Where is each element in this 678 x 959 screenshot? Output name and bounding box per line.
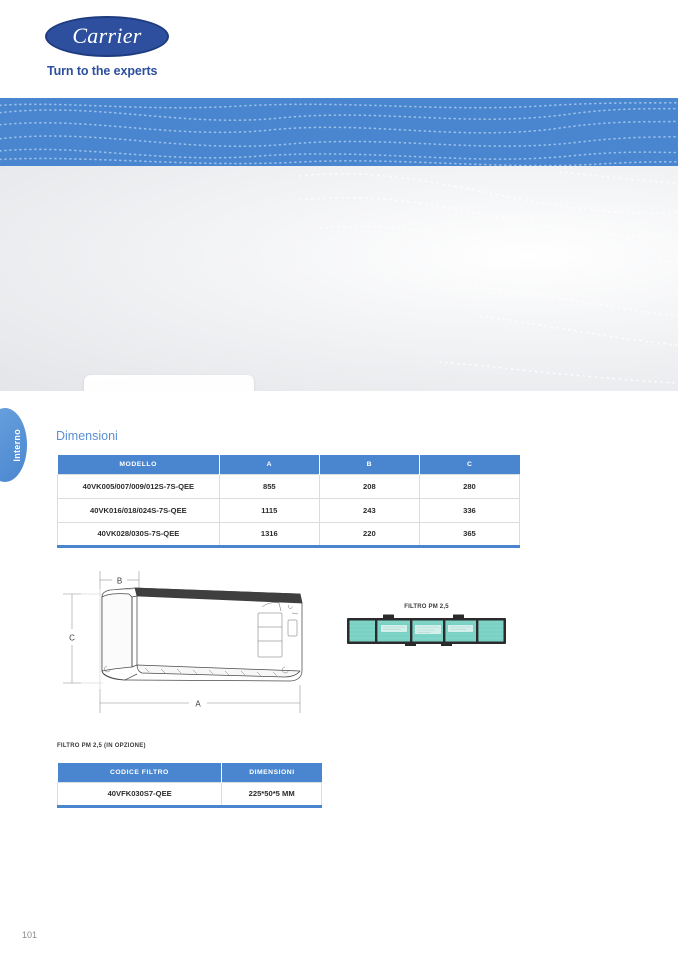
cell-model: 40VK016/018/024S-7S-QEE — [58, 498, 220, 522]
filter-product-image — [345, 600, 508, 651]
cell-c: 336 — [419, 498, 519, 522]
section-title-dimensioni: Dimensioni — [56, 429, 118, 443]
cell-a: 1316 — [219, 522, 319, 546]
decorative-banner — [0, 98, 678, 166]
cell-a: 1115 — [219, 498, 319, 522]
table-row: 40VK028/030S-7S-QEE 1316 220 365 — [58, 522, 520, 546]
filter-table: CODICE FILTRO DIMENSIONI 40VFK030S7-QEE … — [57, 763, 322, 808]
drawing-label-a: A — [195, 700, 201, 709]
cell-b: 243 — [319, 498, 419, 522]
column-header-c: C — [419, 455, 519, 474]
product-image-small-unit — [84, 375, 254, 391]
cell-c: 365 — [419, 522, 519, 546]
table-row: 40VFK030S7-QEE 225*50*5 MM — [58, 782, 322, 806]
cell-filter-code: 40VFK030S7-QEE — [58, 782, 222, 806]
cell-b: 220 — [319, 522, 419, 546]
cell-model: 40VK028/030S-7S-QEE — [58, 522, 220, 546]
column-header-b: B — [319, 455, 419, 474]
logo-wordmark: Carrier — [72, 23, 141, 51]
section-tab-label: Interno — [12, 429, 22, 462]
brand-tagline: Turn to the experts — [47, 64, 157, 78]
column-header-modello: MODELLO — [58, 455, 220, 474]
cell-filter-dimensions: 225*50*5 MM — [222, 782, 322, 806]
page-number: 101 — [22, 930, 37, 940]
dimensions-table: MODELLO A B C 40VK005/007/009/012S-7S-QE… — [57, 455, 520, 548]
brand-header: Carrier Turn to the experts — [0, 0, 678, 98]
banner-wave-pattern — [0, 98, 678, 166]
cell-model: 40VK005/007/009/012S-7S-QEE — [58, 474, 220, 498]
carrier-logo: Carrier — [45, 16, 169, 57]
section-tab-interno: Interno — [0, 408, 27, 482]
hero-wave-pattern — [0, 166, 678, 391]
column-header-dimensioni: DIMENSIONI — [222, 763, 322, 782]
filter-section-note: FILTRO PM 2,5 (IN OPZIONE) — [57, 743, 146, 749]
product-hero: SCOCCA PER DIMENSIONI DA 0,5 HP A 2,5 HP… — [0, 166, 678, 391]
drawing-label-c: C — [69, 634, 75, 643]
column-header-a: A — [219, 455, 319, 474]
table-row: 40VK005/007/009/012S-7S-QEE 855 208 280 — [58, 474, 520, 498]
table-row: 40VK016/018/024S-7S-QEE 1115 243 336 — [58, 498, 520, 522]
table-header-row: CODICE FILTRO DIMENSIONI — [58, 763, 322, 782]
cell-a: 855 — [219, 474, 319, 498]
cell-c: 280 — [419, 474, 519, 498]
table-header-row: MODELLO A B C — [58, 455, 520, 474]
cell-b: 208 — [319, 474, 419, 498]
column-header-codice-filtro: CODICE FILTRO — [58, 763, 222, 782]
drawing-label-b: B — [117, 577, 122, 586]
unit-dimension-drawing: B C A — [57, 567, 332, 720]
